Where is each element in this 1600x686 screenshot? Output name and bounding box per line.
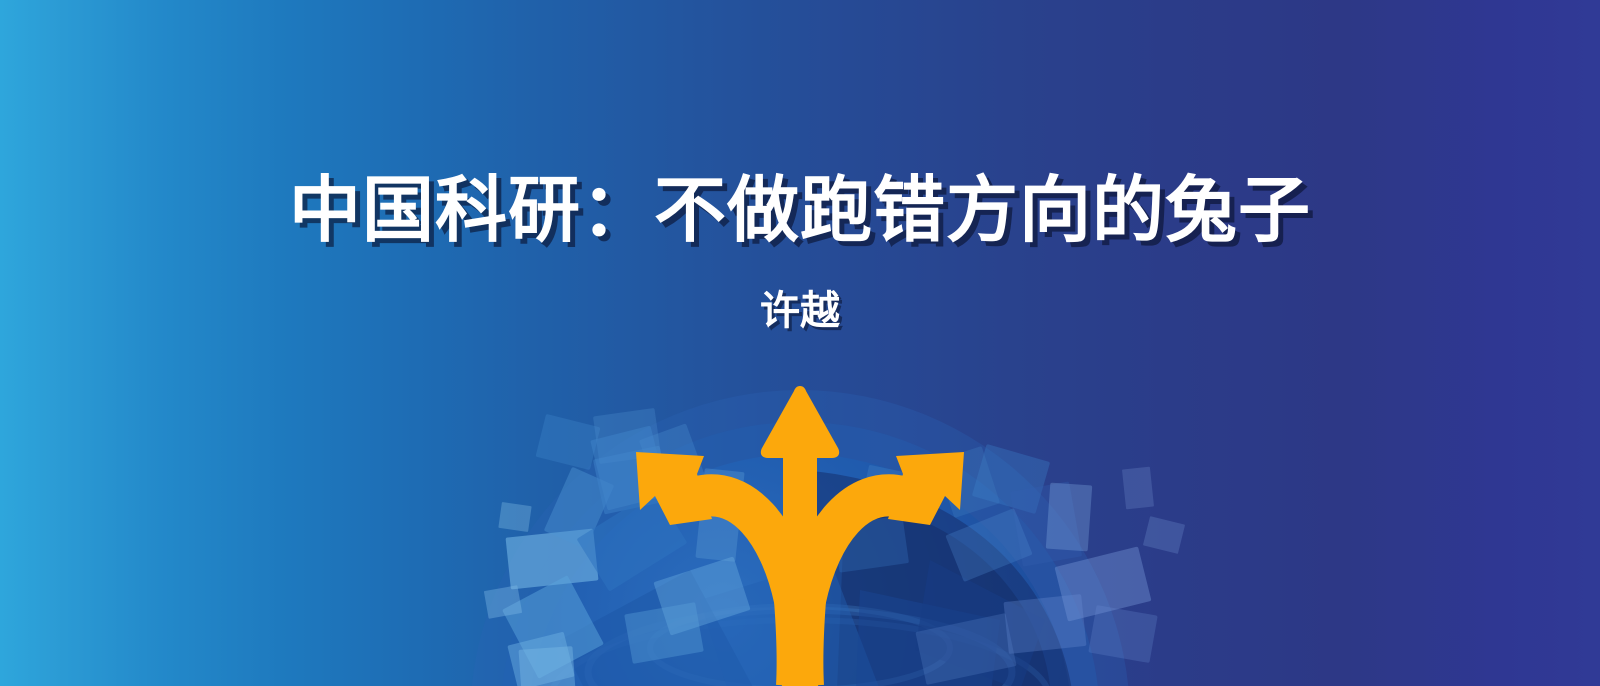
page-title: 中国科研：不做跑错方向的兔子 [0,175,1600,247]
slide-author: 许越 [0,291,1600,331]
slide-text-block: 中国科研：不做跑错方向的兔子 许越 [0,0,1600,686]
presentation-slide: 中国科研：不做跑错方向的兔子 许越 [0,0,1600,686]
